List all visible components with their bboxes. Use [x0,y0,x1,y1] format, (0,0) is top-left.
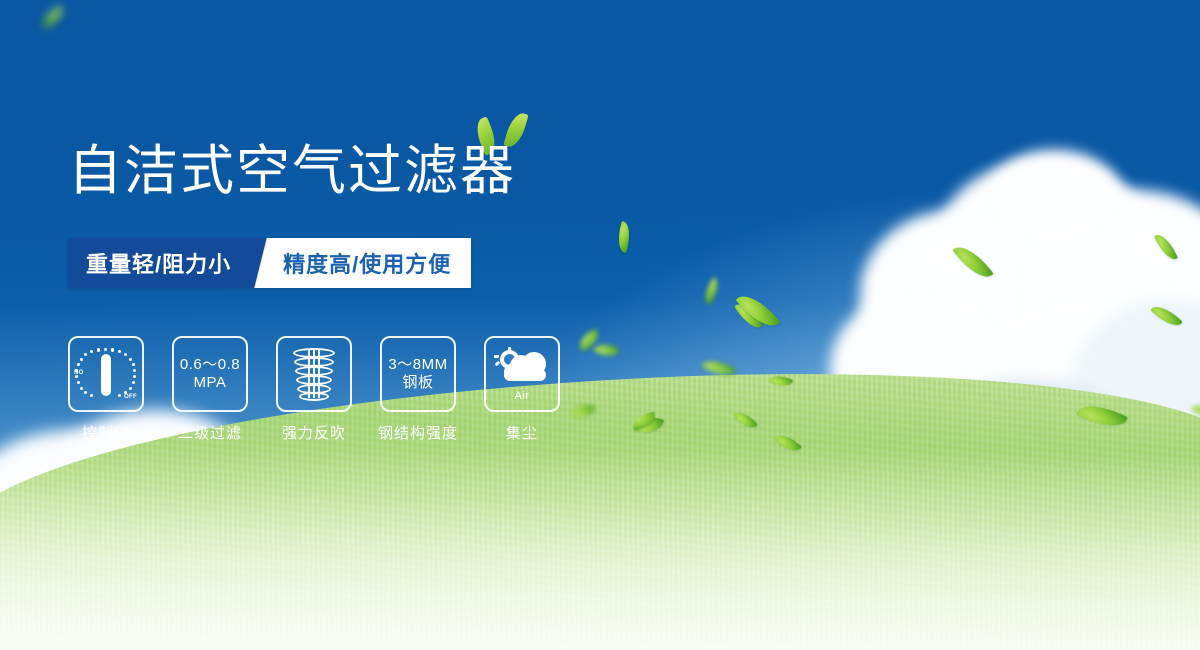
cloud-air-icon [494,347,550,389]
steel-line2: 钢板 [388,374,447,392]
feature-label: 控制仪 [82,422,130,443]
feature-label: 钢结构强度 [378,422,458,443]
subtitle-bar: 重量轻/阻力小 精度高/使用方便 [68,238,471,288]
feature-icon-box: 3～8MM 钢板 [380,336,456,412]
gauge-label-off: OFF [124,394,137,400]
feature-item-control[interactable]: NO OFF 控制仪 [68,336,144,443]
coil-icon [289,346,339,402]
pressure-line1: 0.6～0.8 [180,356,240,373]
feature-label: 集尘 [506,422,538,443]
gauge-label-no: NO [74,370,84,376]
feature-icon-box: 0.6～0.8 MPA [172,336,248,412]
feature-icon-box: NO OFF [68,336,144,412]
subtitle-left: 重量轻/阻力小 [68,238,251,288]
feature-label: 强力反吹 [282,422,346,443]
feature-item-pressure[interactable]: 0.6～0.8 MPA 二级过滤 [172,336,248,443]
feature-label: 二级过滤 [178,422,242,443]
feature-item-dust[interactable]: Air 集尘 [484,336,560,443]
pressure-text-icon: 0.6～0.8 MPA [180,356,240,391]
steel-line1: 3～8MM [388,356,447,373]
ground-haze [0,450,1200,650]
feature-item-steel[interactable]: 3～8MM 钢板 钢结构强度 [380,336,456,443]
subtitle-right: 精度高/使用方便 [277,238,471,288]
subtitle-divider [251,238,277,288]
feature-icon-box: Air [484,336,560,412]
gauge-needle [101,354,111,396]
feature-list: NO OFF 控制仪 0.6～0.8 MPA 二级过滤 [68,336,560,443]
product-banner: 自洁式空气过滤器 重量轻/阻力小 精度高/使用方便 [0,0,1200,650]
gauge-icon: NO OFF [75,346,137,402]
page-title: 自洁式空气过滤器 [68,144,516,198]
pressure-line2: MPA [180,374,240,392]
steel-plate-text-icon: 3～8MM 钢板 [388,356,447,391]
feature-icon-box [276,336,352,412]
air-label: Air [515,390,530,402]
feature-item-blowback[interactable]: 强力反吹 [276,336,352,443]
